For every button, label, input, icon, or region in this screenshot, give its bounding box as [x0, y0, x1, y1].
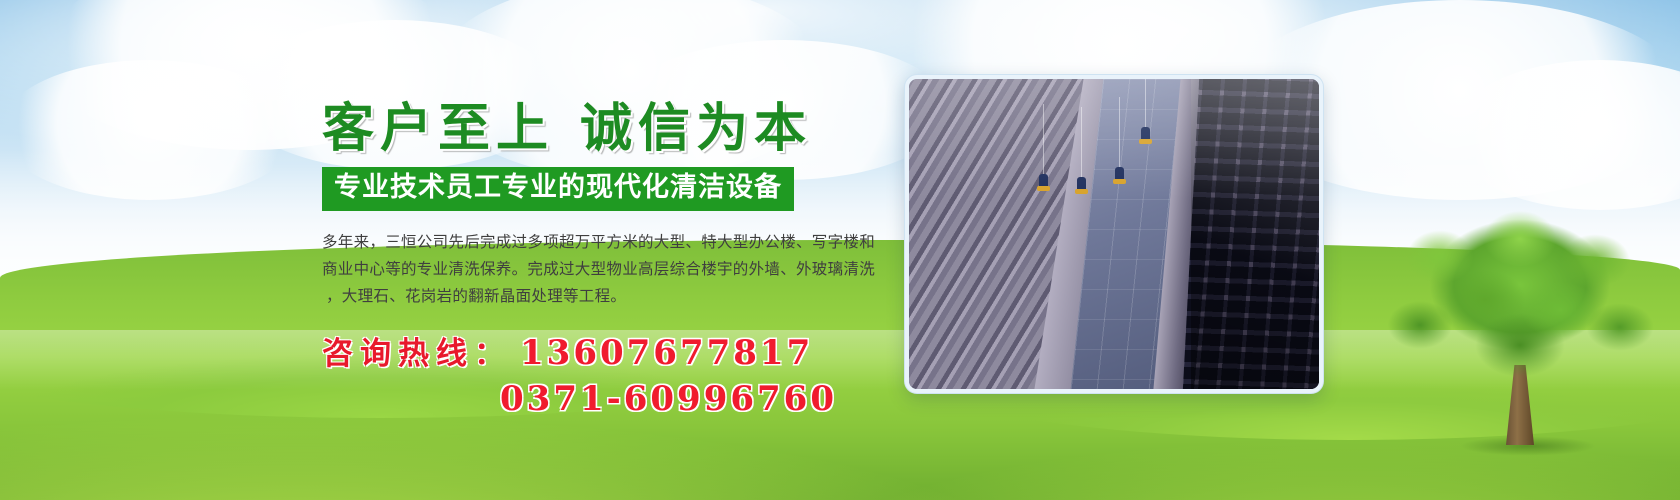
banner-copy: 客户至上诚信为本 专业技术员工专业的现代化清洁设备 多年来，三恒公司先后完成过多… [322, 100, 902, 419]
description-line: 多年来，三恒公司先后完成过多项超万平方米的大型、特大型办公楼、写字楼和 [322, 229, 882, 256]
building-photo-card [905, 75, 1323, 393]
hotline-primary-number[interactable]: 13607677817 [520, 333, 813, 373]
hotline-secondary-number[interactable]: 0371-60996760 [500, 379, 837, 419]
headline-part-1: 客户至上 [322, 98, 554, 159]
promotional-banner: 客户至上诚信为本 专业技术员工专业的现代化清洁设备 多年来，三恒公司先后完成过多… [0, 0, 1680, 500]
hotline-secondary-row: 0371-60996760 [322, 379, 902, 419]
description-text: 多年来，三恒公司先后完成过多项超万平方米的大型、特大型办公楼、写字楼和 商业中心… [322, 229, 882, 310]
subtitle-bar: 专业技术员工专业的现代化清洁设备 [322, 167, 794, 211]
headline-part-2: 诚信为本 [580, 98, 812, 159]
building-photo [909, 79, 1319, 389]
hotline-primary-row: 咨询热线：13607677817 [322, 328, 902, 373]
page-title: 客户至上诚信为本 [322, 100, 902, 157]
description-line: ，大理石、花岗岩的翻新晶面处理等工程。 [322, 283, 882, 310]
photo-gloss-overlay [909, 79, 1319, 199]
tree-canopy [1380, 205, 1660, 395]
description-line: 商业中心等的专业清洗保养。完成过大型物业高层综合楼宇的外墙、外玻璃清洗 [322, 256, 882, 283]
hotline-label: 咨询热线： [322, 336, 512, 372]
tree-illustration [1380, 205, 1660, 455]
